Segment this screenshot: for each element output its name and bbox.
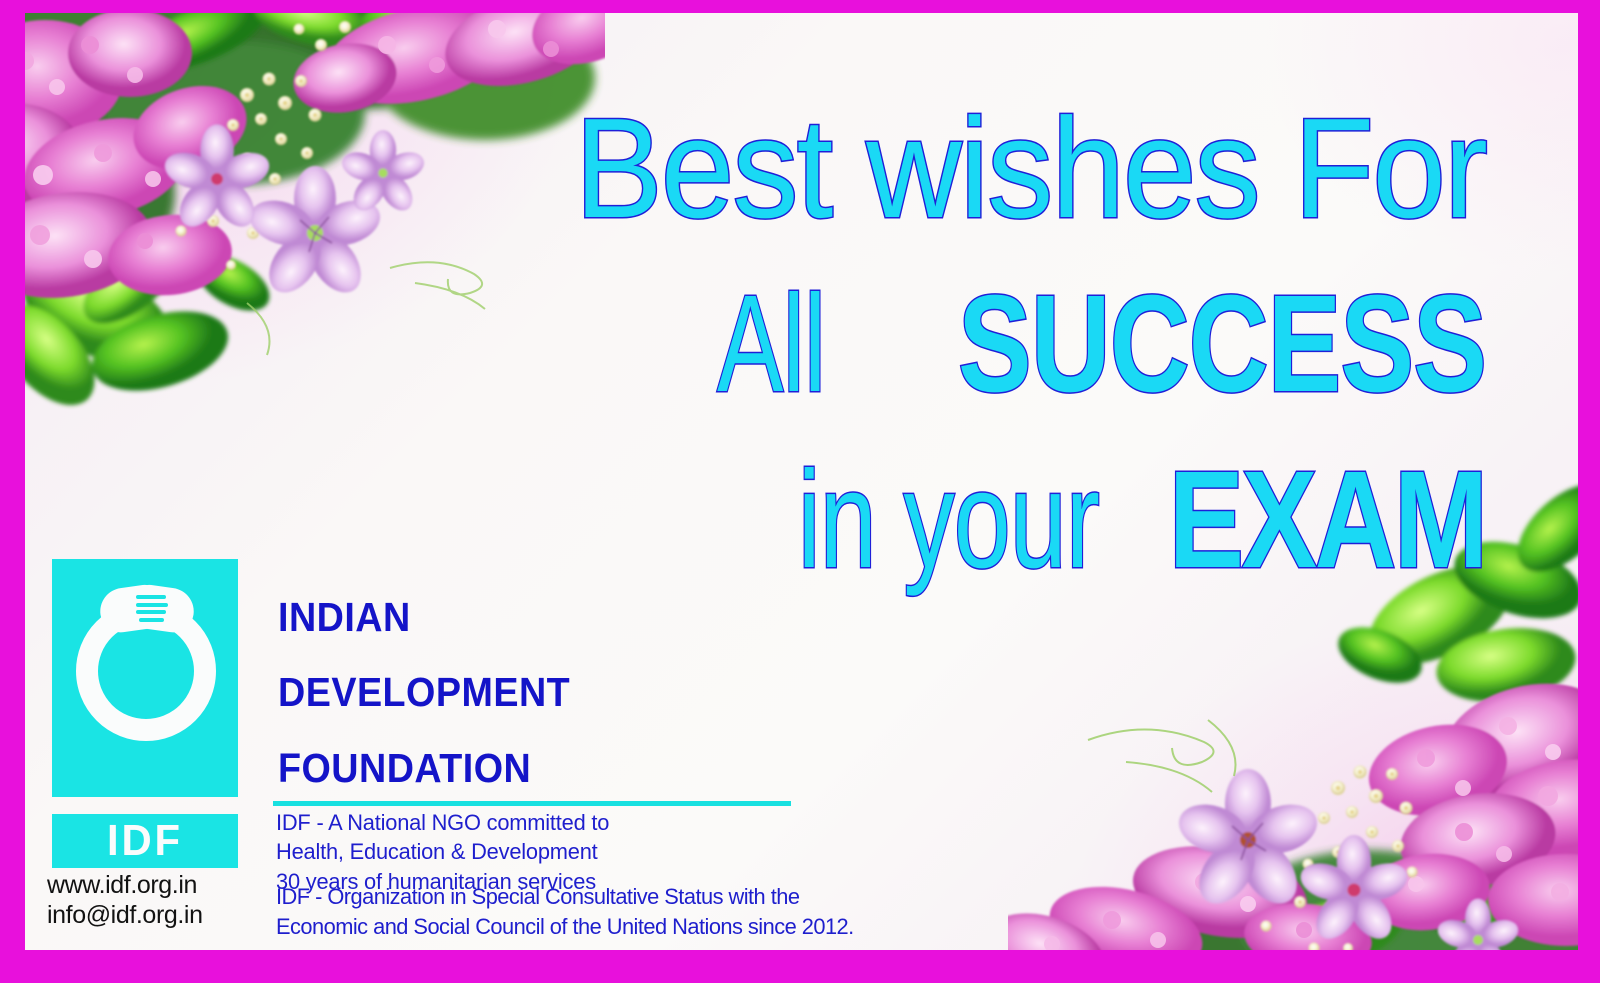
org-name-line-3: FOUNDATION <box>278 731 570 806</box>
contact-block: www.idf.org.in info@idf.org.in <box>47 871 252 930</box>
top-left-flower-cluster <box>25 13 605 523</box>
flower-svg-top-left <box>25 13 605 523</box>
tagline-line-1: IDF - A National NGO committed to <box>276 808 609 837</box>
poster-canvas: Best wishes For AllSUCCESS in yourEXAM <box>25 13 1578 950</box>
email-text[interactable]: info@idf.org.in <box>47 901 252 931</box>
org-name-line-2: DEVELOPMENT <box>278 655 570 730</box>
headline-line-2-bold: SUCCESS <box>958 277 1486 412</box>
cyan-divider <box>273 801 791 806</box>
headline-line-1-text: Best wishes For <box>575 99 1486 238</box>
idf-clasped-hands-ring-icon <box>52 559 238 797</box>
idf-acronym-text: IDF <box>107 819 183 863</box>
website-text[interactable]: www.idf.org.in <box>47 871 252 901</box>
headline-line-3-light: in your <box>798 453 1099 588</box>
headline-line-2-light: All <box>718 277 826 412</box>
tagline-line-2: Health, Education & Development <box>276 837 609 866</box>
fingers-shape <box>136 595 170 625</box>
greeting-poster: Best wishes For AllSUCCESS in yourEXAM <box>0 0 1600 983</box>
headline-line-3: in yourEXAM <box>25 453 1578 588</box>
un-status-block: IDF - Organization in Special Consultati… <box>276 882 854 941</box>
org-name-line-1: INDIAN <box>278 580 570 655</box>
headline-line-3-bold: EXAM <box>1169 453 1486 588</box>
ring-wrap <box>70 585 222 747</box>
headline-line-2: AllSUCCESS <box>25 277 1578 412</box>
un-status-line-2: Economic and Social Council of the Unite… <box>276 912 854 942</box>
un-status-line-1: IDF - Organization in Special Consultati… <box>276 882 854 912</box>
idf-acronym-band: IDF <box>52 814 238 868</box>
headline-line-1: Best wishes For <box>25 99 1578 238</box>
organization-name: INDIAN DEVELOPMENT FOUNDATION <box>278 580 570 806</box>
